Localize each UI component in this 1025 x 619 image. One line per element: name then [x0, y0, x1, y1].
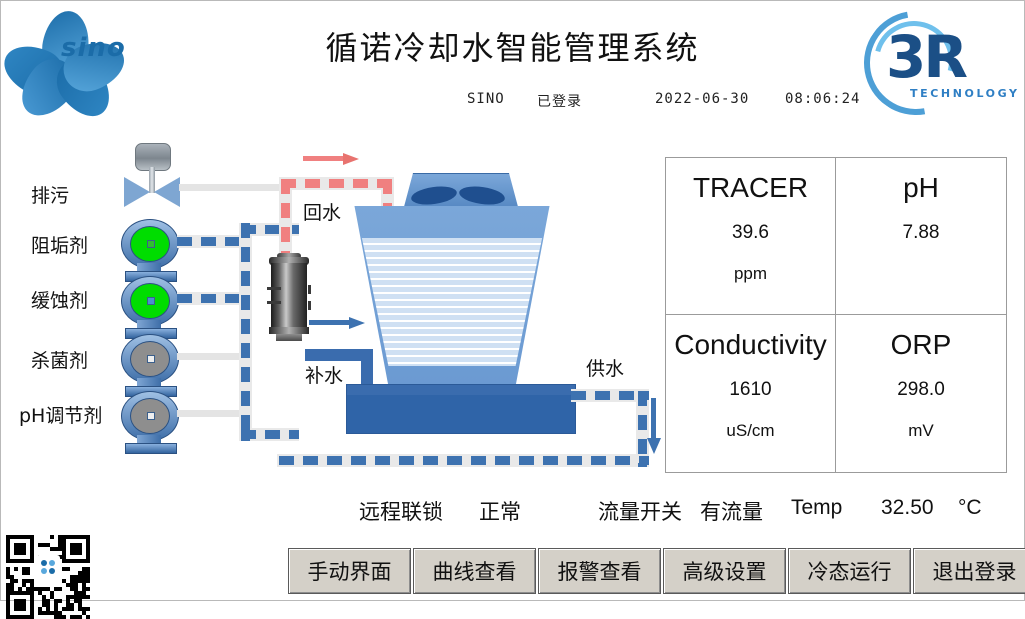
pump-center-dot-icon [147, 355, 155, 363]
reading-conductivity[interactable]: Conductivity 1610 uS/cm [666, 315, 836, 472]
cold-run-button[interactable]: 冷态运行 [788, 548, 911, 594]
pump-ph-adjuster[interactable] [121, 391, 179, 453]
reading-name: TRACER [693, 172, 808, 204]
status-label-flow-switch: 流量开关 [598, 496, 682, 526]
valve-body-icon [124, 177, 180, 207]
label-supply-water: 供水 [584, 354, 626, 381]
status-row: 远程联锁 正常 流量开关 有流量 Temp 32.50 °C [1, 496, 1024, 530]
makeup-flow-arrow-icon [309, 317, 365, 327]
cooling-tower-louvers [346, 238, 558, 366]
loop-pipe-left [241, 223, 250, 441]
vessel-bottom-flange-icon [269, 327, 309, 334]
fan-blade-icon [458, 184, 506, 207]
label-return-water: 回水 [301, 198, 343, 225]
vessel-nozzle-left-2 [267, 301, 281, 304]
makeup-pipe-vertical [361, 349, 373, 387]
vessel-nozzle-left-1 [267, 287, 281, 290]
reading-orp[interactable]: ORP 298.0 mV [836, 315, 1006, 472]
return-pipe-left [281, 179, 290, 259]
pump-center-dot-icon [147, 412, 155, 420]
vessel-shell-icon [271, 263, 307, 329]
3r-technology-logo: 3R TECHNOLOGY [864, 5, 1014, 115]
return-pipe-top [281, 179, 394, 188]
pump-antiscalant[interactable] [121, 219, 179, 281]
reading-unit: uS/cm [726, 421, 774, 441]
reading-name: Conductivity [674, 329, 827, 361]
qr-code[interactable] [6, 535, 90, 599]
supply-flow-arrow-icon [647, 398, 659, 454]
status-label-interlock: 远程联锁 [359, 496, 443, 526]
chem-label-antiscalant: 阻垢剂 [31, 231, 88, 258]
manual-interface-button[interactable]: 手动界面 [288, 548, 411, 594]
supply-pipe-bottom [279, 456, 649, 465]
loop-pipe-bottom [241, 430, 299, 439]
return-flow-arrow-icon [303, 153, 359, 163]
status-unit-temperature: °C [958, 496, 982, 520]
status-value-temperature: 32.50 [881, 496, 934, 520]
vessel-nozzle-right-2 [308, 301, 311, 310]
pump-center-dot-icon [147, 297, 155, 305]
readings-panel: TRACER 39.6 ppm pH 7.88 Conductivity 161… [665, 157, 1007, 473]
login-status: 已登录 [537, 91, 582, 111]
reading-value: 1610 [729, 379, 771, 401]
reading-unit: ppm [734, 264, 767, 284]
label-makeup-water: 补水 [303, 361, 345, 388]
reading-unit: mV [908, 421, 934, 441]
current-user: SINO [467, 91, 505, 107]
system-date: 2022-06-30 [655, 91, 749, 107]
reading-value: 298.0 [897, 379, 945, 401]
reading-name: pH [903, 172, 939, 204]
pump-corrosion-inhibitor[interactable] [121, 276, 179, 338]
reading-value: 7.88 [903, 222, 940, 244]
analyzer-vessel[interactable] [267, 253, 311, 341]
chem-label-biocide: 杀菌剂 [31, 346, 88, 373]
chem-label-ph-adjuster: pH调节剂 [19, 401, 102, 428]
reading-tracer[interactable]: TRACER 39.6 ppm [666, 158, 836, 315]
blowdown-pipe [179, 184, 289, 191]
reading-value: 39.6 [732, 222, 769, 244]
button-bar: 手动界面 曲线查看 报警查看 高级设置 冷态运行 退出登录 [288, 548, 1025, 594]
chem-label-blowdown: 排污 [31, 181, 69, 208]
reading-name: ORP [891, 329, 952, 361]
pump-biocide[interactable] [121, 334, 179, 396]
system-time: 08:06:24 [785, 91, 860, 107]
fan-blade-icon [410, 184, 458, 207]
advanced-settings-button[interactable]: 高级设置 [663, 548, 786, 594]
pump-center-dot-icon [147, 240, 155, 248]
trend-curve-button[interactable]: 曲线查看 [413, 548, 536, 594]
pump-base-icon [125, 443, 177, 454]
status-label-temperature: Temp [791, 496, 842, 520]
blowdown-valve[interactable] [121, 143, 185, 203]
alarm-view-button[interactable]: 报警查看 [538, 548, 661, 594]
logout-button[interactable]: 退出登录 [913, 548, 1025, 594]
status-value-flow-switch: 有流量 [700, 496, 763, 526]
reading-ph[interactable]: pH 7.88 [836, 158, 1006, 315]
chem-label-corrosion-inhibitor: 缓蚀剂 [31, 286, 88, 313]
3r-logo-subtext: TECHNOLOGY [910, 87, 1020, 100]
hmi-screen: sino 循诺冷却水智能管理系统 SINO 已登录 2022-06-30 08:… [0, 0, 1025, 601]
vessel-nozzle-right-1 [308, 285, 311, 294]
status-value-interlock: 正常 [479, 496, 521, 526]
qr-code-center-logo [36, 555, 60, 579]
vessel-foot-icon [276, 334, 302, 341]
cooling-tower-basin [346, 384, 576, 434]
3r-logo-text: 3R [886, 23, 965, 91]
cooling-tower-body [346, 206, 558, 386]
